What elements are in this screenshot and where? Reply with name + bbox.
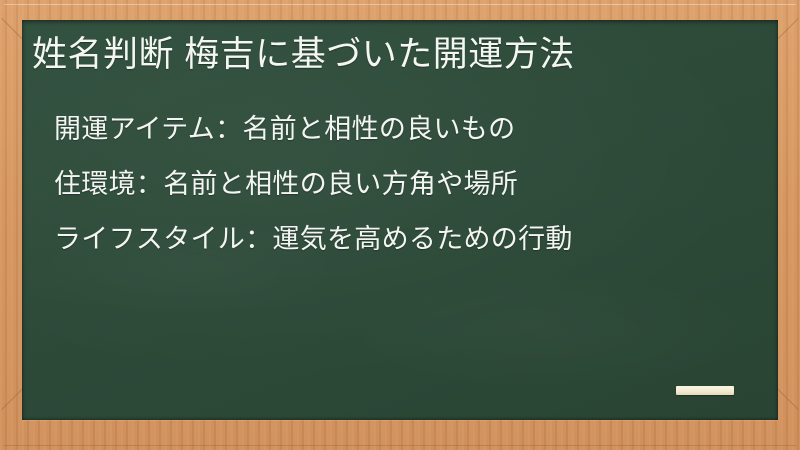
- chalk-stick-icon: [676, 386, 734, 395]
- slide-canvas: 姓名判断 梅吉に基づいた開運方法 開運アイテム：名前と相性の良いもの 住環境：名…: [0, 0, 800, 450]
- slide-title: 姓名判断 梅吉に基づいた開運方法: [32, 32, 767, 78]
- bullet-item-3: ライフスタイル：運気を高めるための行動: [54, 212, 754, 267]
- bullet-list: 開運アイテム：名前と相性の良いもの 住環境：名前と相性の良い方角や場所 ライフス…: [54, 102, 754, 267]
- bullet-item-2: 住環境：名前と相性の良い方角や場所: [54, 157, 754, 212]
- bullet-item-1: 開運アイテム：名前と相性の良いもの: [54, 102, 754, 157]
- blackboard-surface: 姓名判断 梅吉に基づいた開運方法 開運アイテム：名前と相性の良いもの 住環境：名…: [22, 20, 778, 420]
